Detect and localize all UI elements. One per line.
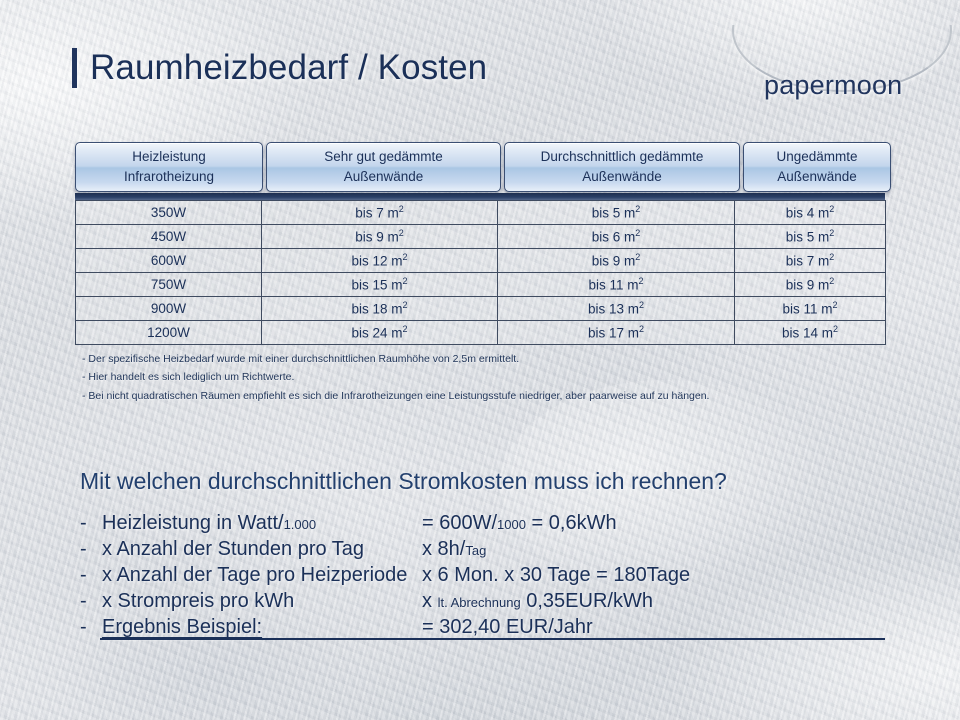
cell-none: bis 4 m2 [735, 201, 886, 225]
calc-left: Ergebnis Beispiel: [102, 616, 422, 639]
superscript: 2 [403, 252, 408, 262]
calc-right-post: = 0,6kWh [526, 512, 617, 534]
table-row: 350W bis 7 m2 bis 5 m2 bis 4 m2 [76, 201, 886, 225]
superscript: 2 [403, 276, 408, 286]
calc-left: Heizleistung in Watt/1.000 [102, 512, 422, 535]
cell-power: 750W [76, 273, 262, 297]
cell-good: bis 15 m2 [262, 273, 498, 297]
table-row: 450W bis 9 m2 bis 6 m2 bis 5 m2 [76, 225, 886, 249]
cell-power: 450W [76, 225, 262, 249]
calc-right-pre: = 302,40 EUR/Jahr [422, 616, 593, 638]
cell-power: 600W [76, 249, 262, 273]
cell-text: bis 17 m [588, 326, 639, 341]
cell-text: bis 9 m [786, 278, 830, 293]
calculation-list: - Heizleistung in Watt/1.000 = 600W/1000… [80, 512, 890, 642]
cell-good: bis 9 m2 [262, 225, 498, 249]
calc-right: = 600W/1000 = 0,6kWh [422, 512, 890, 535]
calc-right: x 6 Mon. x 30 Tage = 180Tage [422, 564, 890, 587]
superscript: 2 [635, 228, 640, 238]
superscript: 2 [639, 276, 644, 286]
table-header-row: Heizleistung Infrarotheizung Sehr gut ge… [75, 142, 885, 192]
calc-left: x Anzahl der Tage pro Heizperiode [102, 564, 422, 587]
logo-wordmark: papermoon [764, 70, 902, 101]
cell-text: bis 7 m [786, 254, 830, 269]
calc-right: x 8h/Tag [422, 538, 890, 561]
cell-text: bis 5 m [592, 206, 636, 221]
cell-text: bis 9 m [355, 230, 399, 245]
superscript: 2 [639, 324, 644, 334]
header-line-2: Außenwände [344, 167, 424, 187]
cell-none: bis 14 m2 [735, 321, 886, 345]
brand-logo: papermoon [726, 26, 938, 126]
calc-right-pre: x [422, 590, 438, 612]
page-title: Raumheizbedarf / Kosten [72, 48, 487, 88]
cell-avg: bis 11 m2 [498, 273, 735, 297]
cell-text: bis 6 m [592, 230, 636, 245]
bullet-dash: - [80, 512, 102, 535]
cell-text: bis 5 m [786, 230, 830, 245]
header-line-1: Sehr gut gedämmte [324, 147, 443, 167]
table-header-cell-average-insulated: Durchschnittlich gedämmte Außenwände [504, 142, 740, 192]
header-line-2: Infrarotheizung [124, 167, 214, 187]
calc-right-post: 0,35EUR/kWh [521, 590, 653, 612]
calc-left-small: 1.000 [284, 517, 317, 532]
calc-right-small: Tag [465, 543, 486, 558]
table-row: 750W bis 15 m2 bis 11 m2 bis 9 m2 [76, 273, 886, 297]
table-body: 350W bis 7 m2 bis 5 m2 bis 4 m2 450W bis… [75, 200, 886, 345]
calc-right-pre: x 6 Mon. x 30 Tage = 180Tage [422, 564, 690, 586]
cell-text: bis 24 m [351, 326, 402, 341]
cell-power: 350W [76, 201, 262, 225]
title-label: Raumheizbedarf / Kosten [90, 48, 487, 88]
table-header-cell-uninsulated: Ungedämmte Außenwände [743, 142, 891, 192]
calc-left: x Strompreis pro kWh [102, 590, 422, 613]
calc-right-small: lt. Abrechnung [438, 595, 521, 610]
footnotes: - Der spezifische Heizbedarf wurde mit e… [82, 350, 872, 405]
header-line-2: Außenwände [582, 167, 662, 187]
cell-avg: bis 9 m2 [498, 249, 735, 273]
calc-left-main: x Anzahl der Stunden pro Tag [102, 538, 364, 560]
calc-right-pre: = 600W/ [422, 512, 497, 534]
heating-demand-table: Heizleistung Infrarotheizung Sehr gut ge… [75, 142, 885, 345]
calc-row: - x Anzahl der Tage pro Heizperiode x 6 … [80, 564, 890, 590]
header-line-1: Ungedämmte [776, 147, 857, 167]
calc-row: - x Anzahl der Stunden pro Tag x 8h/Tag [80, 538, 890, 564]
superscript: 2 [635, 252, 640, 262]
cell-text: bis 14 m [782, 326, 833, 341]
superscript: 2 [399, 204, 404, 214]
cell-avg: bis 5 m2 [498, 201, 735, 225]
superscript: 2 [829, 252, 834, 262]
cell-good: bis 24 m2 [262, 321, 498, 345]
cell-text: bis 7 m [355, 206, 399, 221]
cell-avg: bis 6 m2 [498, 225, 735, 249]
cell-none: bis 11 m2 [735, 297, 886, 321]
result-underline [100, 638, 885, 640]
calc-right-pre: x 8h/ [422, 538, 465, 560]
superscript: 2 [403, 324, 408, 334]
superscript: 2 [639, 300, 644, 310]
calc-left-main: x Anzahl der Tage pro Heizperiode [102, 564, 407, 586]
header-line-1: Durchschnittlich gedämmte [541, 147, 704, 167]
table-header-cell-well-insulated: Sehr gut gedämmte Außenwände [266, 142, 501, 192]
cell-text: bis 11 m [588, 278, 638, 293]
section-question: Mit welchen durchschnittlichen Stromkost… [80, 468, 727, 495]
bullet-dash: - [80, 564, 102, 587]
cell-avg: bis 17 m2 [498, 321, 735, 345]
calc-row: - Heizleistung in Watt/1.000 = 600W/1000… [80, 512, 890, 538]
superscript: 2 [635, 204, 640, 214]
bullet-dash: - [80, 590, 102, 613]
cell-text: bis 9 m [592, 254, 636, 269]
calc-left-main: x Strompreis pro kWh [102, 590, 294, 612]
superscript: 2 [399, 228, 404, 238]
superscript: 2 [829, 276, 834, 286]
cell-text: bis 18 m [351, 302, 402, 317]
cell-text: bis 13 m [588, 302, 639, 317]
table-row: 600W bis 12 m2 bis 9 m2 bis 7 m2 [76, 249, 886, 273]
cell-none: bis 9 m2 [735, 273, 886, 297]
calc-left-main: Ergebnis Beispiel: [102, 616, 262, 638]
cell-power: 1200W [76, 321, 262, 345]
superscript: 2 [833, 324, 838, 334]
superscript: 2 [833, 300, 838, 310]
header-line-1: Heizleistung [132, 147, 206, 167]
bullet-dash: - [80, 538, 102, 561]
calc-left: x Anzahl der Stunden pro Tag [102, 538, 422, 561]
footnote-item: - Bei nicht quadratischen Räumen empfieh… [82, 387, 872, 405]
cell-none: bis 7 m2 [735, 249, 886, 273]
header-divider [75, 193, 885, 200]
calc-right: x lt. Abrechnung 0,35EUR/kWh [422, 590, 890, 613]
bullet-dash: - [80, 616, 102, 639]
cell-text: bis 12 m [351, 254, 402, 269]
table-row: 900W bis 18 m2 bis 13 m2 bis 11 m2 [76, 297, 886, 321]
cell-good: bis 12 m2 [262, 249, 498, 273]
superscript: 2 [829, 204, 834, 214]
table-row: 1200W bis 24 m2 bis 17 m2 bis 14 m2 [76, 321, 886, 345]
cell-good: bis 7 m2 [262, 201, 498, 225]
calc-right: = 302,40 EUR/Jahr [422, 616, 890, 639]
title-accent-bar [72, 48, 77, 88]
calc-row: - x Strompreis pro kWh x lt. Abrechnung … [80, 590, 890, 616]
header-line-2: Außenwände [777, 167, 857, 187]
cell-none: bis 5 m2 [735, 225, 886, 249]
calc-right-small: 1000 [497, 517, 526, 532]
cell-text: bis 15 m [351, 278, 402, 293]
calc-left-main: Heizleistung in Watt/ [102, 512, 284, 534]
cell-avg: bis 13 m2 [498, 297, 735, 321]
cell-good: bis 18 m2 [262, 297, 498, 321]
footnote-item: - Hier handelt es sich lediglich um Rich… [82, 368, 872, 386]
cell-text: bis 4 m [786, 206, 830, 221]
superscript: 2 [403, 300, 408, 310]
cell-power: 900W [76, 297, 262, 321]
footnote-item: - Der spezifische Heizbedarf wurde mit e… [82, 350, 872, 368]
table-header-cell-power: Heizleistung Infrarotheizung [75, 142, 263, 192]
superscript: 2 [829, 228, 834, 238]
cell-text: bis 11 m [782, 302, 832, 317]
